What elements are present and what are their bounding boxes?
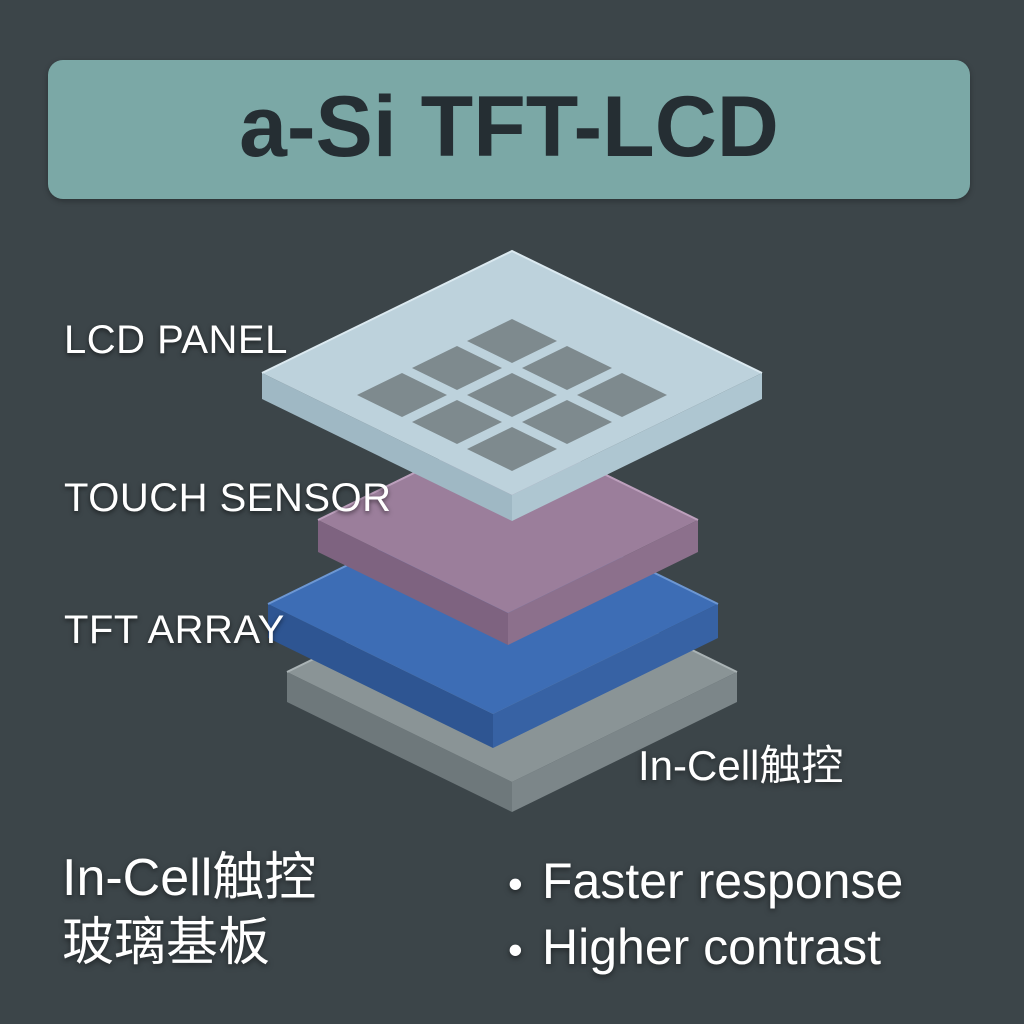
pixel-cell bbox=[357, 373, 447, 417]
bullet-icon: • bbox=[508, 929, 542, 971]
benefits-list: • Faster response • Higher contrast bbox=[508, 848, 903, 980]
layer-label-touch-sensor: TOUCH SENSOR bbox=[64, 476, 392, 521]
tft-left-face bbox=[268, 604, 493, 748]
page-title: a-Si TFT-LCD bbox=[239, 84, 779, 170]
caption-line-1: In-Cell触控 bbox=[62, 846, 316, 911]
pixel-cell bbox=[412, 400, 502, 444]
layer-label-lcd-panel: LCD PANEL bbox=[64, 318, 288, 363]
tft-right-face bbox=[493, 604, 718, 748]
pixel-cell bbox=[467, 427, 557, 471]
lcd-top-face bbox=[262, 251, 762, 495]
lcd-pixel-grid bbox=[357, 319, 667, 471]
title-banner: a-Si TFT-LCD bbox=[48, 60, 970, 199]
pixel-cell bbox=[577, 373, 667, 417]
annotation-in-cell-touch: In-Cell触控 bbox=[638, 732, 843, 793]
substrate-top-highlight bbox=[287, 562, 737, 672]
caption-block: In-Cell触控 玻璃基板 bbox=[62, 846, 316, 976]
lcd-right-face bbox=[512, 373, 762, 521]
touch-left-face bbox=[318, 520, 508, 645]
lcd-top-highlight bbox=[262, 251, 762, 373]
tft-top-face bbox=[268, 494, 718, 714]
touch-right-face bbox=[508, 520, 698, 645]
pixel-cell bbox=[467, 319, 557, 363]
benefit-label: Faster response bbox=[542, 848, 903, 914]
layer-label-tft-array: TFT ARRAY bbox=[64, 608, 285, 653]
pixel-cell bbox=[522, 400, 612, 444]
bullet-icon: • bbox=[508, 863, 542, 905]
layer-touch-sensor bbox=[318, 427, 698, 645]
infographic-canvas: a-Si TFT-LCD bbox=[0, 0, 1024, 1024]
layer-tft-array bbox=[268, 494, 718, 748]
list-item: • Faster response bbox=[508, 848, 903, 914]
benefit-label: Higher contrast bbox=[542, 914, 881, 980]
list-item: • Higher contrast bbox=[508, 914, 903, 980]
pixel-cell bbox=[412, 346, 502, 390]
pixel-cell bbox=[467, 373, 557, 417]
substrate-left-face bbox=[287, 672, 512, 812]
pixel-cell bbox=[522, 346, 612, 390]
caption-line-2: 玻璃基板 bbox=[62, 911, 316, 976]
